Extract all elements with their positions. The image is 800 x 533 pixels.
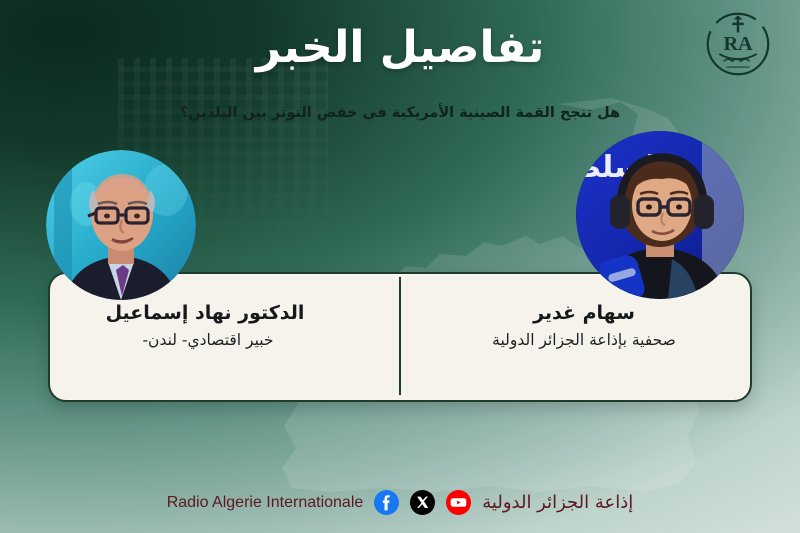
host-info: سهام غدير صحفية بإذاعة الجزائر الدولية (424, 300, 744, 352)
news-detail-card: RA تفاصيل الخبر هل تنجح القمة الصينية ال… (0, 0, 800, 533)
x-twitter-icon[interactable] (410, 490, 435, 515)
host-name: سهام غدير (424, 300, 744, 328)
facebook-icon[interactable] (374, 490, 399, 515)
footer-bar: Radio Algerie Internationale إذاعة الجزا… (0, 490, 800, 515)
host-role: صحفية بإذاعة الجزائر الدولية (424, 328, 744, 352)
card-divider (399, 277, 401, 395)
guest-role: خبير اقتصادي- لندن- (56, 328, 376, 352)
page-subtitle: هل تنجح القمة الصينية الأمريكية في خفض ا… (0, 104, 800, 123)
host-avatar: السلط ي (576, 131, 744, 299)
footer-arabic-label: إذاعة الجزائر الدولية (482, 492, 633, 513)
page-title: تفاصيل الخبر (0, 24, 800, 72)
guest-info: الدكتور نهاد إسماعيل خبير اقتصادي- لندن- (56, 300, 376, 352)
footer-latin-label: Radio Algerie Internationale (167, 494, 364, 512)
guest-avatar (46, 150, 196, 300)
guest-name: الدكتور نهاد إسماعيل (56, 300, 376, 328)
youtube-icon[interactable] (446, 490, 471, 515)
